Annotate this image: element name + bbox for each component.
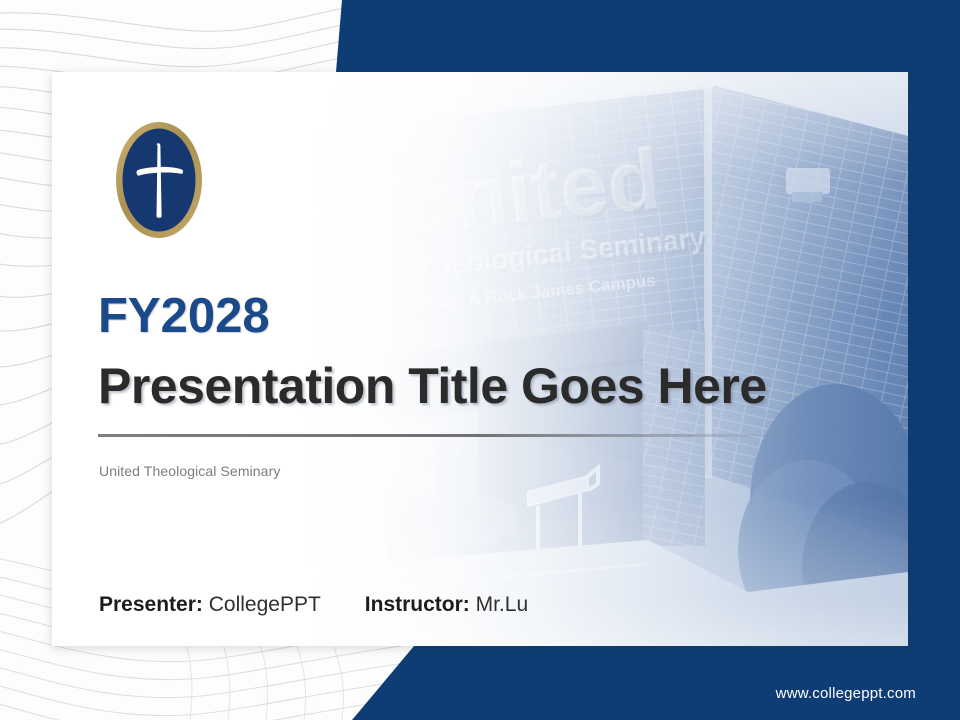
navy-shape-right [908,72,960,720]
fiscal-year-label: FY2028 [98,292,818,342]
title-block: FY2028 Presentation Title Goes Here [98,292,818,413]
presentation-meta-row: Presenter: CollegePPT Instructor: Mr.Lu [99,593,528,617]
organization-subtitle: United Theological Seminary [99,463,280,479]
title-divider-line [98,434,788,437]
instructor-field: Instructor: Mr.Lu [365,593,528,617]
page-title: Presentation Title Goes Here [98,360,818,413]
presentation-slide: united Theological Seminary Faith & Rock… [0,0,960,720]
footer-website-url: www.collegeppt.com [776,685,916,702]
navy-shape-bottom [352,646,960,720]
presenter-field: Presenter: CollegePPT [99,593,321,617]
instructor-value: Mr.Lu [476,593,529,616]
presenter-value: CollegePPT [209,593,321,616]
instructor-label: Instructor: [365,593,470,616]
presenter-label: Presenter: [99,593,203,616]
seminary-cross-emblem-logo [113,118,205,242]
